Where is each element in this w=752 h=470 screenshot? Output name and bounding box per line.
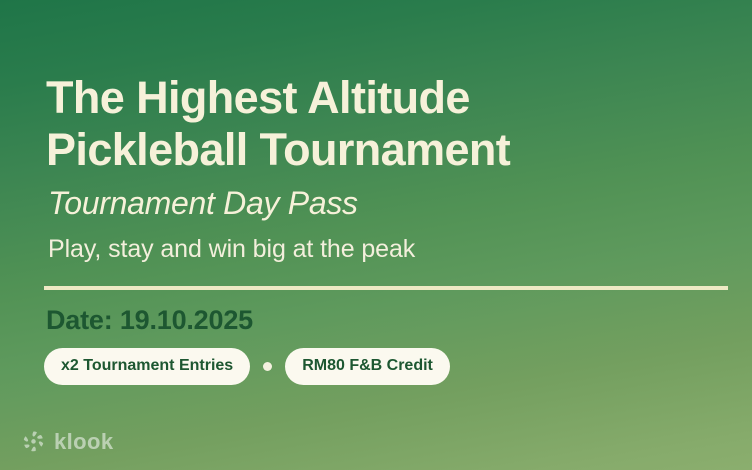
perk-badge-entries: x2 Tournament Entries — [44, 348, 250, 385]
perk-badge-credit: RM80 F&B Credit — [285, 348, 450, 385]
headline-line-2: Pickleball Tournament — [46, 124, 726, 176]
klook-watermark: klook — [21, 429, 113, 454]
separator-dot-icon — [263, 362, 272, 371]
perks-list: x2 Tournament Entries RM80 F&B Credit — [44, 348, 726, 385]
banner-subtitle: Tournament Day Pass — [48, 184, 726, 222]
page-title: The Highest Altitude Pickleball Tourname… — [46, 72, 726, 176]
banner-tagline: Play, stay and win big at the peak — [48, 234, 726, 264]
event-date: Date: 19.10.2025 — [46, 304, 726, 336]
divider — [44, 286, 728, 290]
banner-content: The Highest Altitude Pickleball Tourname… — [46, 72, 726, 385]
klook-wordmark: klook — [54, 431, 113, 453]
headline-line-1: The Highest Altitude — [46, 72, 726, 124]
promo-banner: The Highest Altitude Pickleball Tourname… — [0, 0, 752, 470]
klook-logo-icon — [21, 429, 46, 454]
